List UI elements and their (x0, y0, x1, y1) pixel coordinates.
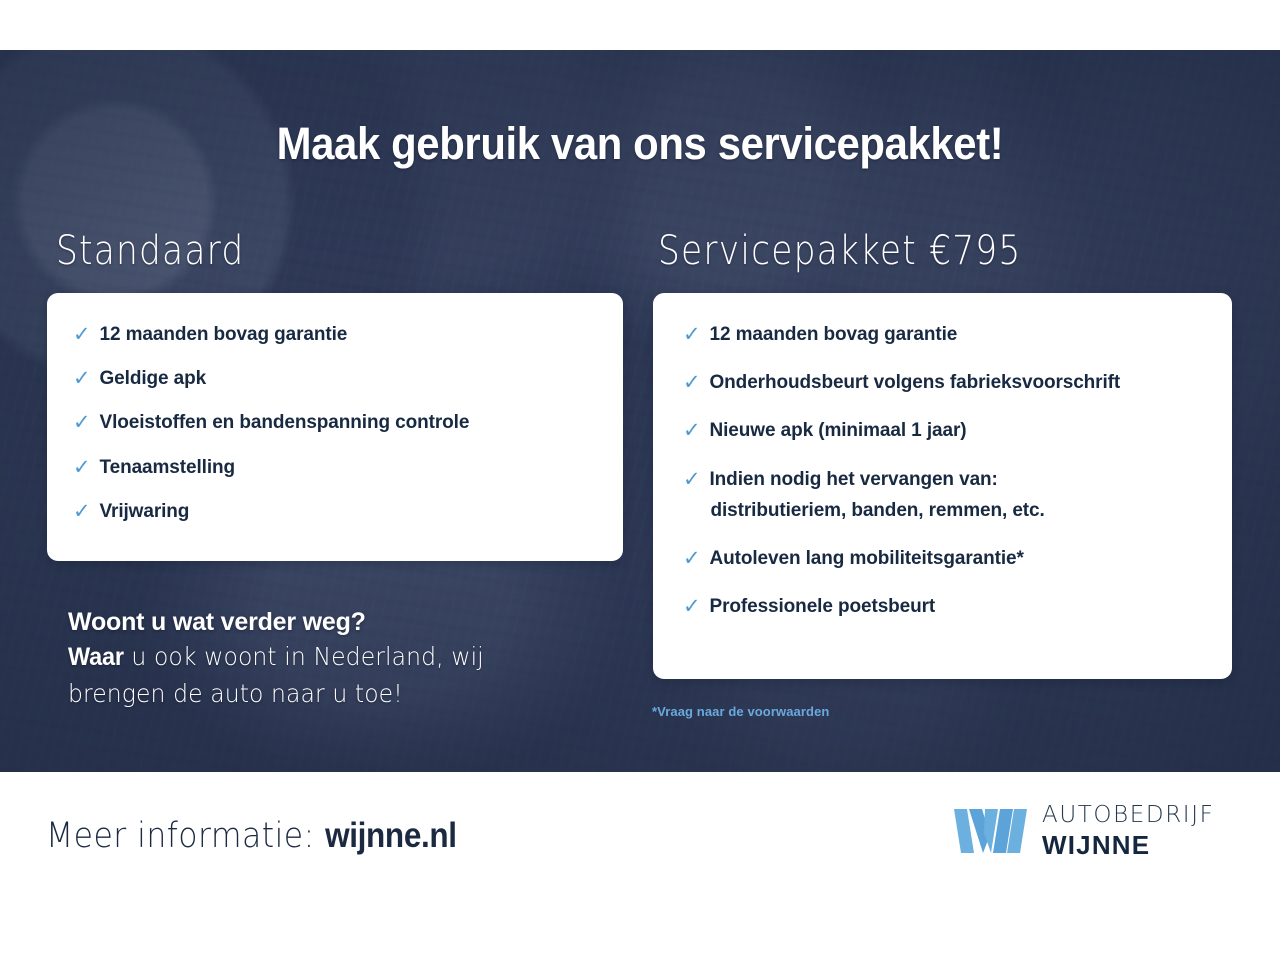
service-package-card: ✓ 12 maanden bovag garantie ✓ Onderhouds… (653, 293, 1232, 679)
feature-label: Tenaamstelling (100, 456, 236, 479)
check-icon: ✓ (73, 500, 91, 522)
list-item: ✓ Vrijwaring (47, 500, 623, 544)
list-item: ✓ 12 maanden bovag garantie (653, 323, 1232, 371)
list-item: ✓ 12 maanden bovag garantie (47, 323, 623, 367)
feature-label: Indien nodig het vervangen van: (710, 468, 1045, 491)
feature-label: 12 maanden bovag garantie (100, 323, 348, 346)
feature-label: Vloeistoffen en bandenspanning controle (100, 411, 470, 434)
check-icon: ✓ (73, 367, 91, 389)
standard-feature-list: ✓ 12 maanden bovag garantie ✓ Geldige ap… (47, 293, 623, 544)
check-icon: ✓ (73, 456, 91, 478)
list-item: ✓ Onderhoudsbeurt volgens fabrieksvoorsc… (653, 371, 1232, 419)
brand-logo[interactable]: AUTOBEDRIJF WIJNNE (952, 804, 1214, 858)
delivery-question: Woont u wat verder weg? (68, 606, 608, 639)
list-item: ✓ Indien nodig het vervangen van: distri… (653, 468, 1232, 547)
list-item: ✓ Autoleven lang mobiliteitsgarantie* (653, 547, 1232, 595)
wijnne-w-logo-icon (952, 805, 1028, 857)
feature-label: Vrijwaring (100, 500, 190, 523)
check-icon: ✓ (683, 547, 701, 569)
check-icon: ✓ (683, 419, 701, 441)
page-title: Maak gebruik van ons servicepakket! (45, 118, 1235, 170)
list-item: ✓ Vloeistoffen en bandenspanning control… (47, 411, 623, 455)
check-icon: ✓ (683, 371, 701, 393)
feature-label: Onderhoudsbeurt volgens fabrieksvoorschr… (710, 371, 1121, 394)
top-white-band (0, 0, 1280, 50)
service-column-heading: Servicepakket €795 (658, 228, 1021, 274)
delivery-body-text: u ook woont in Nederland, wij brengen de… (68, 642, 484, 708)
service-feature-list: ✓ 12 maanden bovag garantie ✓ Onderhouds… (653, 293, 1232, 643)
check-icon: ✓ (683, 323, 701, 345)
list-item: ✓ Geldige apk (47, 367, 623, 411)
conditions-footnote: *Vraag naar de voorwaarden (652, 704, 829, 719)
check-icon: ✓ (73, 411, 91, 433)
check-icon: ✓ (683, 595, 701, 617)
standard-package-card: ✓ 12 maanden bovag garantie ✓ Geldige ap… (47, 293, 623, 561)
feature-sublabel: distributieriem, banden, remmen, etc. (710, 491, 1045, 522)
brand-bottom-label: WIJNNE (1042, 832, 1214, 858)
more-information-prefix: Meer informatie: (46, 816, 325, 856)
feature-label: Nieuwe apk (minimaal 1 jaar) (710, 419, 967, 442)
list-item: ✓ Nieuwe apk (minimaal 1 jaar) (653, 419, 1232, 467)
brand-top-label: AUTOBEDRIJF (1042, 804, 1214, 827)
check-icon: ✓ (73, 323, 91, 345)
more-information: Meer informatie: wijnne.nl (46, 816, 457, 856)
feature-label: Professionele poetsbeurt (710, 595, 936, 618)
list-item: ✓ Tenaamstelling (47, 456, 623, 500)
feature-label: Geldige apk (100, 367, 207, 390)
delivery-lead: Waar (68, 643, 124, 671)
brand-wordmark: AUTOBEDRIJF WIJNNE (1042, 804, 1214, 858)
feature-label: 12 maanden bovag garantie (710, 323, 958, 346)
feature-label: Autoleven lang mobiliteitsgarantie* (710, 547, 1024, 570)
delivery-note: Woont u wat verder weg? Waar u ook woont… (68, 606, 608, 711)
check-icon: ✓ (683, 468, 701, 490)
website-link[interactable]: wijnne.nl (325, 816, 457, 855)
bottom-white-band (0, 772, 1280, 960)
service-package-poster: Maak gebruik van ons servicepakket! Stan… (0, 0, 1280, 960)
standard-column-heading: Standaard (56, 228, 244, 274)
delivery-body: Waar u ook woont in Nederland, wij breng… (68, 639, 576, 711)
list-item: ✓ Professionele poetsbeurt (653, 595, 1232, 643)
